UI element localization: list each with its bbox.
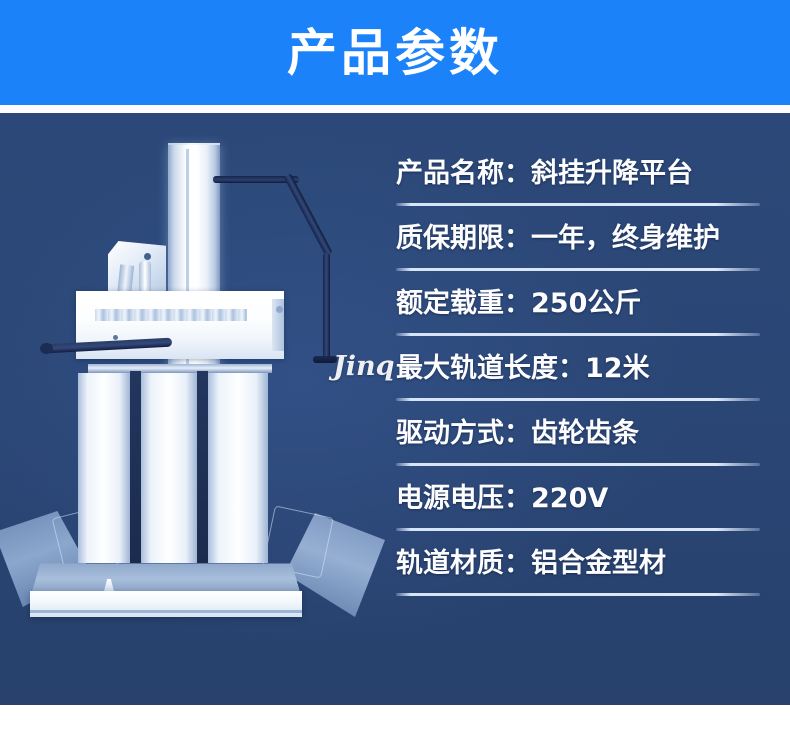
watermark: Jinq	[333, 351, 395, 382]
handrail-vertical	[323, 253, 330, 361]
spec-text: 电源电压：220V	[396, 485, 608, 512]
cabinet-panel-center	[141, 373, 197, 563]
product-parameters-page: 产品参数	[0, 0, 790, 733]
platform-deck-front-line	[30, 610, 302, 613]
header-banner: 产品参数	[0, 0, 790, 105]
panel-gap-left	[130, 371, 141, 563]
spec-text: 轨道材质：铝合金型材	[396, 550, 666, 577]
content-panel: Jinq 产品名称：斜挂升降平台 质保期限：一年，终身维护 额定载重：250公斤…	[0, 113, 790, 705]
spec-text: 质保期限：一年，终身维护	[396, 225, 720, 252]
spec-row-drive-type: 驱动方式：齿轮齿条	[396, 401, 764, 466]
spec-row-track-material: 轨道材质：铝合金型材	[396, 531, 764, 596]
spec-text: 最大轨道长度：12米	[396, 355, 650, 382]
bottom-white-margin	[0, 705, 790, 733]
spec-text: 驱动方式：齿轮齿条	[396, 420, 639, 447]
cabinet-panel-left	[78, 373, 130, 563]
banner-body-gap	[0, 105, 790, 113]
spec-text: 产品名称：斜挂升降平台	[396, 160, 693, 187]
spec-divider	[396, 593, 760, 596]
platform-deck-front	[30, 591, 302, 617]
spec-row-voltage: 电源电压：220V	[396, 466, 764, 531]
page-title: 产品参数	[287, 28, 503, 78]
spec-row-max-track-length: 最大轨道长度：12米	[396, 336, 764, 401]
spec-text: 额定载重：250公斤	[396, 290, 641, 317]
lever-knob	[40, 343, 53, 354]
cross-beam	[88, 364, 272, 373]
spec-row-warranty: 质保期限：一年，终身维护	[396, 206, 764, 271]
housing-indicator	[113, 335, 118, 340]
spec-row-product-name: 产品名称：斜挂升降平台	[396, 141, 764, 206]
bracket-bolt	[144, 253, 151, 260]
handrail-diagonal	[283, 173, 332, 256]
housing-knob	[276, 306, 283, 313]
product-photo	[0, 113, 380, 705]
spec-list: 产品名称：斜挂升降平台 质保期限：一年，终身维护 额定载重：250公斤 最大轨道…	[396, 141, 764, 596]
housing-label-strip	[95, 309, 247, 321]
spec-row-rated-load: 额定载重：250公斤	[396, 271, 764, 336]
cabinet-panel-right	[208, 373, 268, 563]
panel-gap-right	[197, 371, 208, 563]
